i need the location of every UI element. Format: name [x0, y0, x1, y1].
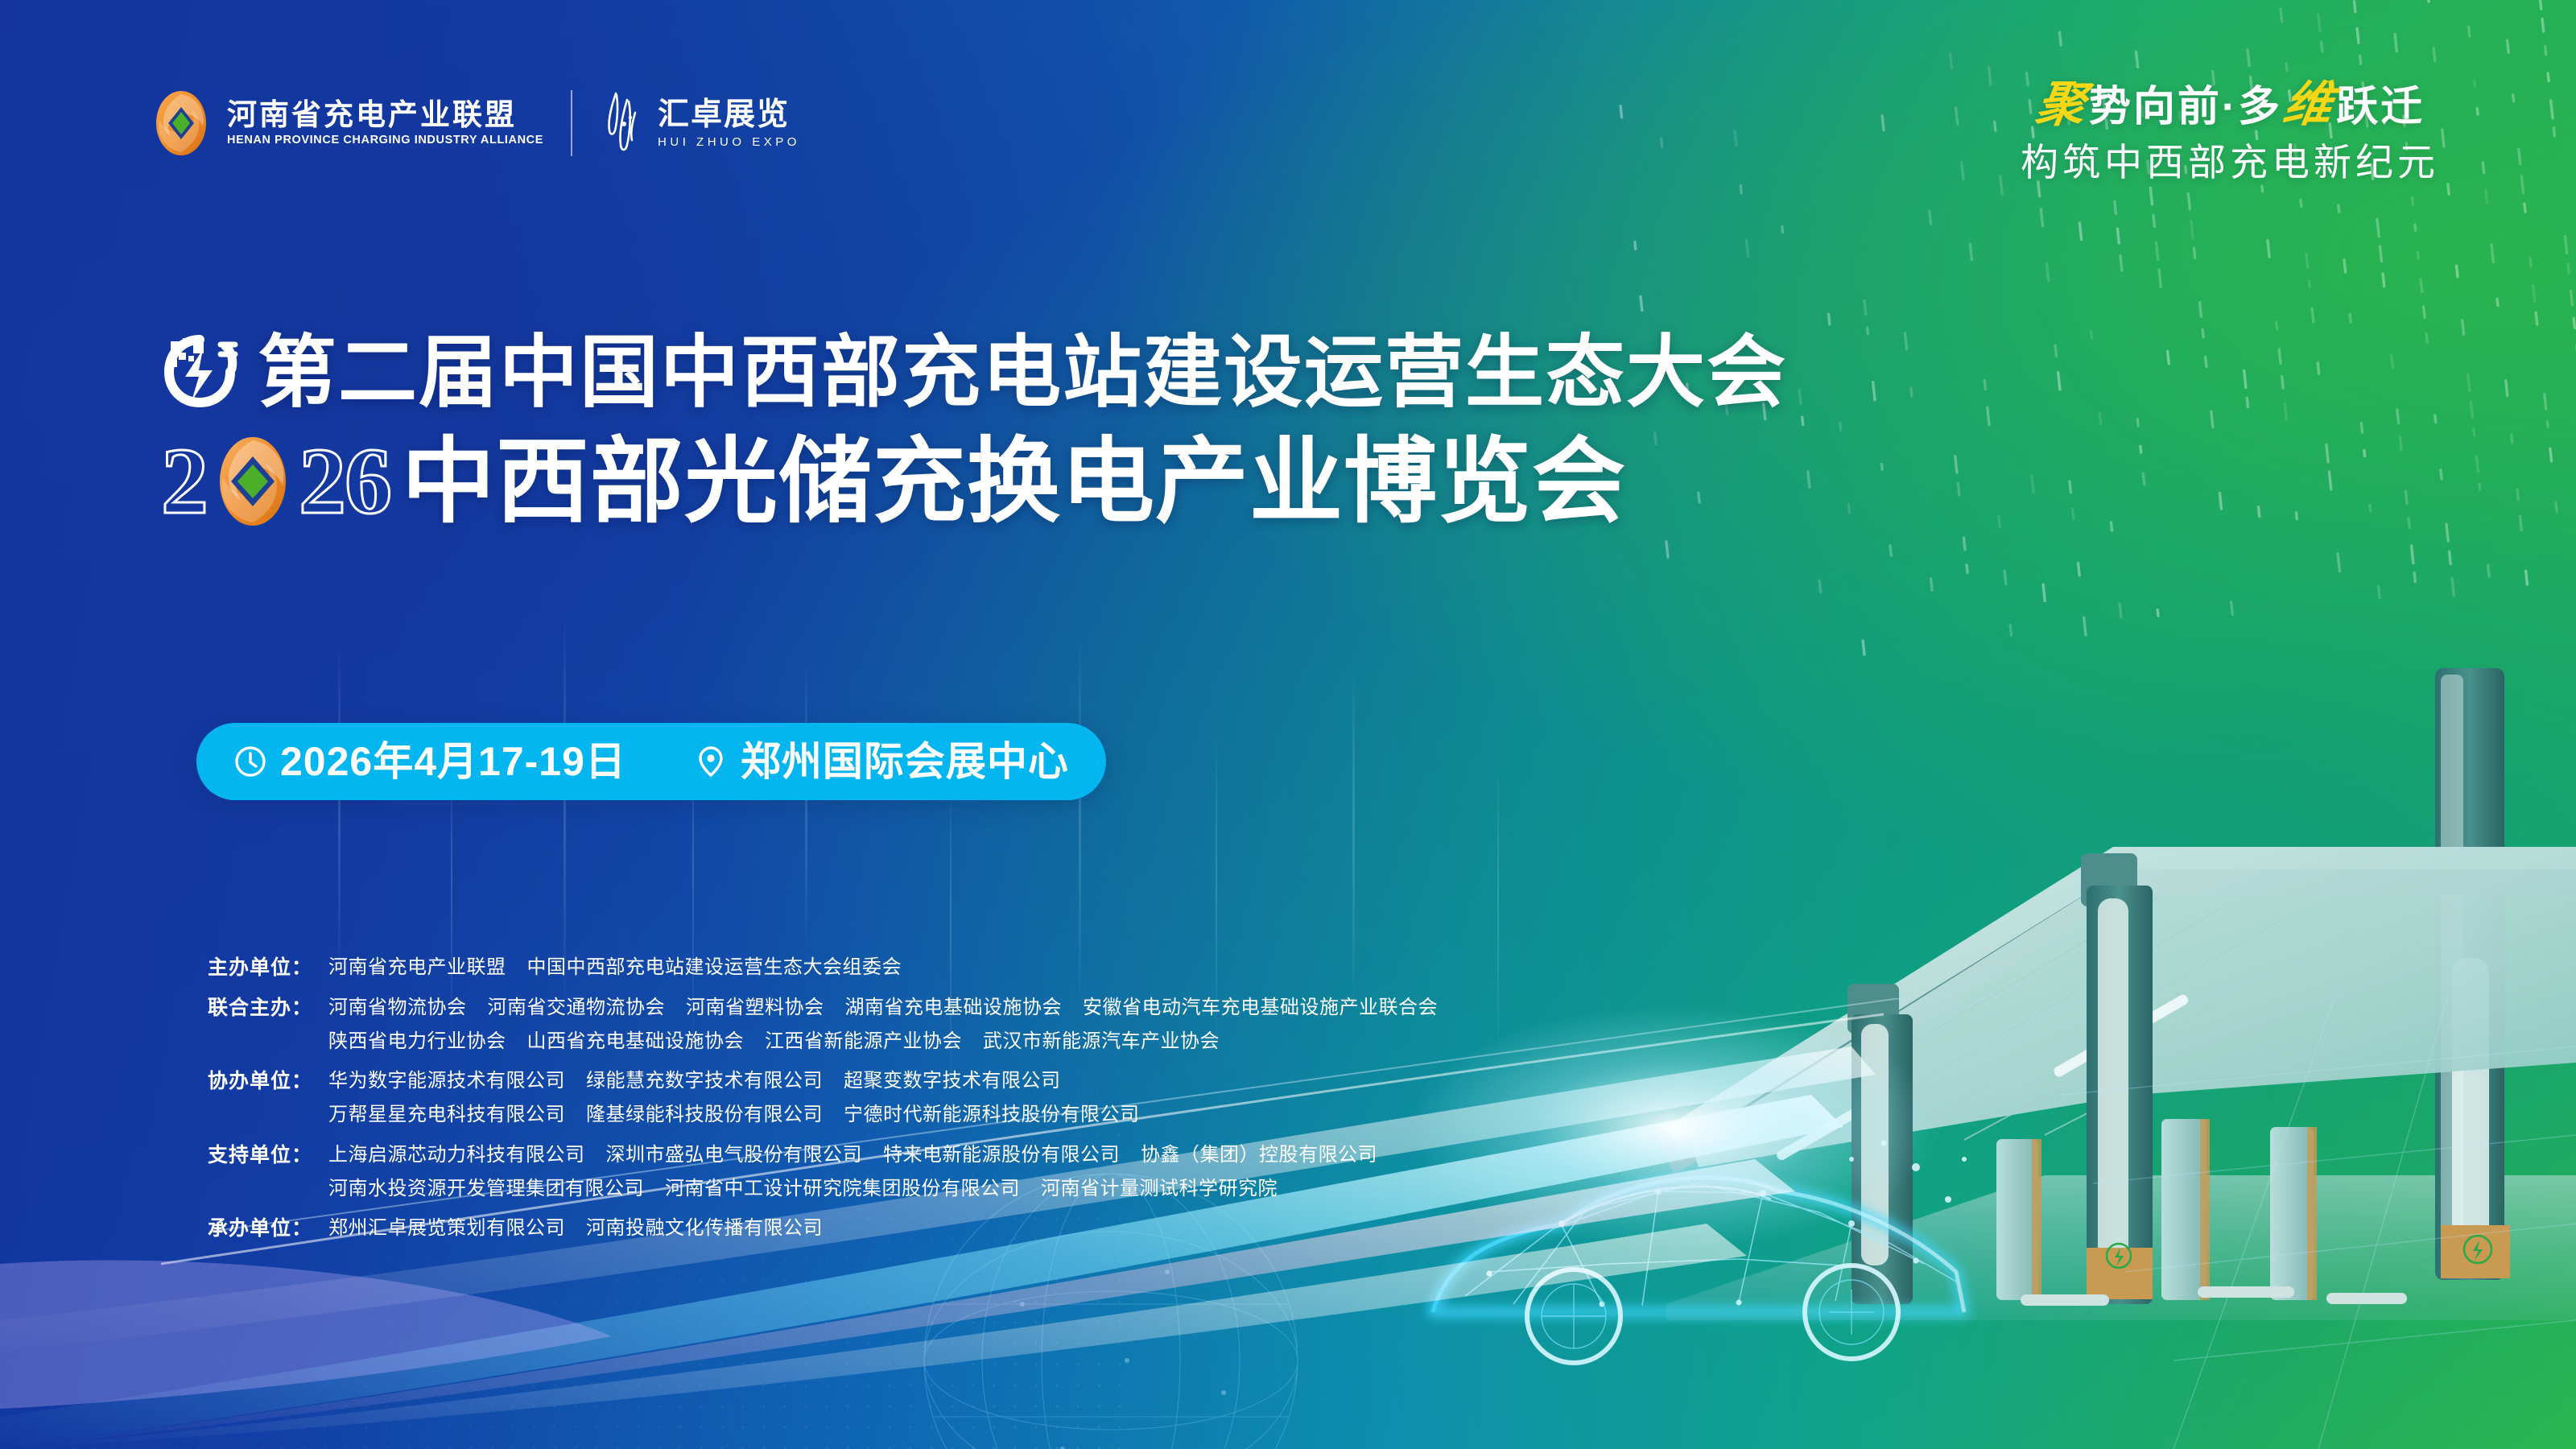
- organizer-label: 承办单位：: [208, 1212, 328, 1245]
- slogan-highlight-ju: 聚: [2030, 77, 2093, 133]
- venue-item: 郑州国际会展中心: [694, 741, 1069, 782]
- slogan-line1-mid: 势向前·多: [2089, 84, 2282, 130]
- clock-icon: [233, 745, 267, 778]
- slogan-line-2: 构筑中西部充电新纪元: [2021, 141, 2439, 184]
- slogan-line-1: 聚势向前·多维跃迁: [2035, 77, 2425, 133]
- event-date: 2026年4月17-19日: [280, 741, 626, 782]
- date-venue-pill: 2026年4月17-19日 郑州国际会展中心: [196, 723, 1106, 800]
- alliance-name-en: HENAN PROVINCE CHARGING INDUSTRY ALLIANC…: [227, 134, 543, 147]
- expo-name-en: HUI ZHUO EXPO: [658, 136, 800, 148]
- organizer-values: 上海启源芯动力科技有限公司深圳市盛弘电气股份有限公司特来电新能源股份有限公司协鑫…: [328, 1139, 1377, 1206]
- year-2026: 2: [161, 430, 390, 533]
- expo-logo[interactable]: 汇卓展览 HUI ZHUO EXPO: [600, 89, 800, 158]
- organizer-name: 宁德时代新能源科技股份有限公司: [844, 1104, 1140, 1125]
- organizer-name: 河南省计量测试科学研究院: [1041, 1178, 1278, 1199]
- organizer-values: 华为数字能源技术有限公司绿能慧充数字技术有限公司超聚变数字技术有限公司万帮星星充…: [328, 1065, 1140, 1132]
- organizer-name: 河南省中工设计研究院集团股份有限公司: [665, 1178, 1020, 1199]
- organizer-line: 陕西省电力行业协会山西省充电基础设施协会江西省新能源产业协会武汉市新能源汽车产业…: [328, 1026, 1438, 1058]
- organizer-name: 安徽省电动汽车充电基础设施产业联合会: [1083, 997, 1438, 1018]
- expo-banner: 河南省充电产业联盟 HENAN PROVINCE CHARGING INDUST…: [0, 0, 2576, 1449]
- organizer-values: 河南省充电产业联盟中国中西部充电站建设运营生态大会组委会: [328, 952, 902, 984]
- organizer-line: 万帮星星充电科技有限公司隆基绿能科技股份有限公司宁德时代新能源科技股份有限公司: [328, 1099, 1140, 1131]
- organizer-values: 郑州汇卓展览策划有限公司河南投融文化传播有限公司: [328, 1212, 823, 1245]
- organizer-name: 深圳市盛弘电气股份有限公司: [606, 1144, 863, 1166]
- alliance-swirl-logo-icon: [151, 89, 211, 157]
- organizer-line: 上海启源芯动力科技有限公司深圳市盛弘电气股份有限公司特来电新能源股份有限公司协鑫…: [328, 1139, 1377, 1171]
- organizer-name: 绿能慧充数字技术有限公司: [586, 1070, 823, 1092]
- organizer-row: 联合主办：河南省物流协会河南省交通物流协会河南省塑料协会湖南省充电基础设施协会安…: [208, 992, 1737, 1059]
- organizer-name: 隆基绿能科技股份有限公司: [586, 1104, 823, 1125]
- organizer-label: 联合主办：: [208, 992, 328, 1025]
- organizer-label: 主办单位：: [208, 952, 328, 985]
- organizer-label: 支持单位：: [208, 1139, 328, 1172]
- organizer-label: 协办单位：: [208, 1065, 328, 1098]
- organizer-name: 江西省新能源产业协会: [765, 1030, 962, 1052]
- slogan-line1-end: 跃迁: [2336, 84, 2425, 130]
- title-line-1-row: 第二届中国中西部充电站建设运营生态大会: [158, 328, 1787, 417]
- organizer-name: 山西省充电基础设施协会: [527, 1030, 745, 1052]
- organizer-row: 主办单位：河南省充电产业联盟中国中西部充电站建设运营生态大会组委会: [208, 952, 1737, 985]
- slogan-block: 聚势向前·多维跃迁 构筑中西部充电新纪元: [2021, 77, 2439, 184]
- conference-title: 第二届中国中西部充电站建设运营生态大会: [258, 332, 1787, 414]
- huizhuo-brush-logo-icon: [600, 89, 646, 158]
- organizer-name: 河南省塑料协会: [686, 997, 824, 1018]
- organizer-row: 支持单位：上海启源芯动力科技有限公司深圳市盛弘电气股份有限公司特来电新能源股份有…: [208, 1139, 1737, 1206]
- organizer-line: 华为数字能源技术有限公司绿能慧充数字技术有限公司超聚变数字技术有限公司: [328, 1065, 1140, 1097]
- organizer-line: 河南省物流协会河南省交通物流协会河南省塑料协会湖南省充电基础设施协会安徽省电动汽…: [328, 992, 1438, 1024]
- organizer-line: 河南省充电产业联盟中国中西部充电站建设运营生态大会组委会: [328, 952, 902, 984]
- organizer-name: 特来电新能源股份有限公司: [883, 1144, 1120, 1166]
- organizer-name: 上海启源芯动力科技有限公司: [328, 1144, 585, 1166]
- logo-divider: [571, 90, 572, 156]
- organizer-name: 湖南省充电基础设施协会: [845, 997, 1063, 1018]
- alliance-name-cn: 河南省充电产业联盟: [227, 100, 543, 130]
- expo-name-cn: 汇卓展览: [658, 99, 800, 130]
- event-venue: 郑州国际会展中心: [741, 741, 1069, 782]
- year-digit-1: 2: [161, 434, 207, 529]
- organizer-line: 郑州汇卓展览策划有限公司河南投融文化传播有限公司: [328, 1212, 823, 1245]
- year-digit-4: 6: [345, 434, 390, 529]
- organizer-name: 河南投融文化传播有限公司: [586, 1217, 823, 1239]
- organizer-values: 河南省物流协会河南省交通物流协会河南省塑料协会湖南省充电基础设施协会安徽省电动汽…: [328, 992, 1438, 1059]
- organizer-name: 河南省交通物流协会: [488, 997, 666, 1018]
- date-item: 2026年4月17-19日: [233, 741, 626, 782]
- organizer-name: 河南省充电产业联盟: [328, 956, 506, 978]
- organizer-name: 郑州汇卓展览策划有限公司: [328, 1217, 565, 1239]
- organizer-name: 陕西省电力行业协会: [328, 1030, 506, 1052]
- organizer-row: 承办单位：郑州汇卓展览策划有限公司河南投融文化传播有限公司: [208, 1212, 1737, 1245]
- organizer-name: 中国中西部充电站建设运营生态大会组委会: [527, 956, 902, 978]
- organizer-name: 河南水投资源开发管理集团有限公司: [328, 1178, 644, 1199]
- header-logo-group: 河南省充电产业联盟 HENAN PROVINCE CHARGING INDUST…: [151, 89, 800, 158]
- alliance-logo[interactable]: 河南省充电产业联盟 HENAN PROVINCE CHARGING INDUST…: [151, 89, 543, 157]
- location-pin-icon: [694, 745, 728, 778]
- organizer-name: 河南省物流协会: [328, 997, 467, 1018]
- organizer-name: 协鑫（集团）控股有限公司: [1141, 1144, 1377, 1166]
- organizer-name: 万帮星星充电科技有限公司: [328, 1104, 565, 1125]
- year-digit-3: 2: [299, 434, 345, 529]
- charging-bolt-icon: [158, 328, 242, 412]
- organizer-name: 华为数字能源技术有限公司: [328, 1070, 565, 1092]
- slogan-highlight-wei: 维: [2278, 77, 2341, 133]
- organizer-name: 超聚变数字技术有限公司: [844, 1070, 1061, 1092]
- organizer-line: 河南水投资源开发管理集团有限公司河南省中工设计研究院集团股份有限公司河南省计量测…: [328, 1173, 1377, 1205]
- title-line-2-row: 2: [161, 430, 1787, 533]
- organizer-name: 武汉市新能源汽车产业协会: [983, 1030, 1220, 1052]
- expo-title: 中西部光储充换电产业博览会: [402, 435, 1626, 528]
- main-title-block: 第二届中国中西部充电站建设运营生态大会 2: [158, 328, 1787, 533]
- organizers-block: 主办单位：河南省充电产业联盟中国中西部充电站建设运营生态大会组委会联合主办：河南…: [208, 952, 1737, 1253]
- year-zero-logo: [204, 432, 302, 530]
- organizer-row: 协办单位：华为数字能源技术有限公司绿能慧充数字技术有限公司超聚变数字技术有限公司…: [208, 1065, 1737, 1132]
